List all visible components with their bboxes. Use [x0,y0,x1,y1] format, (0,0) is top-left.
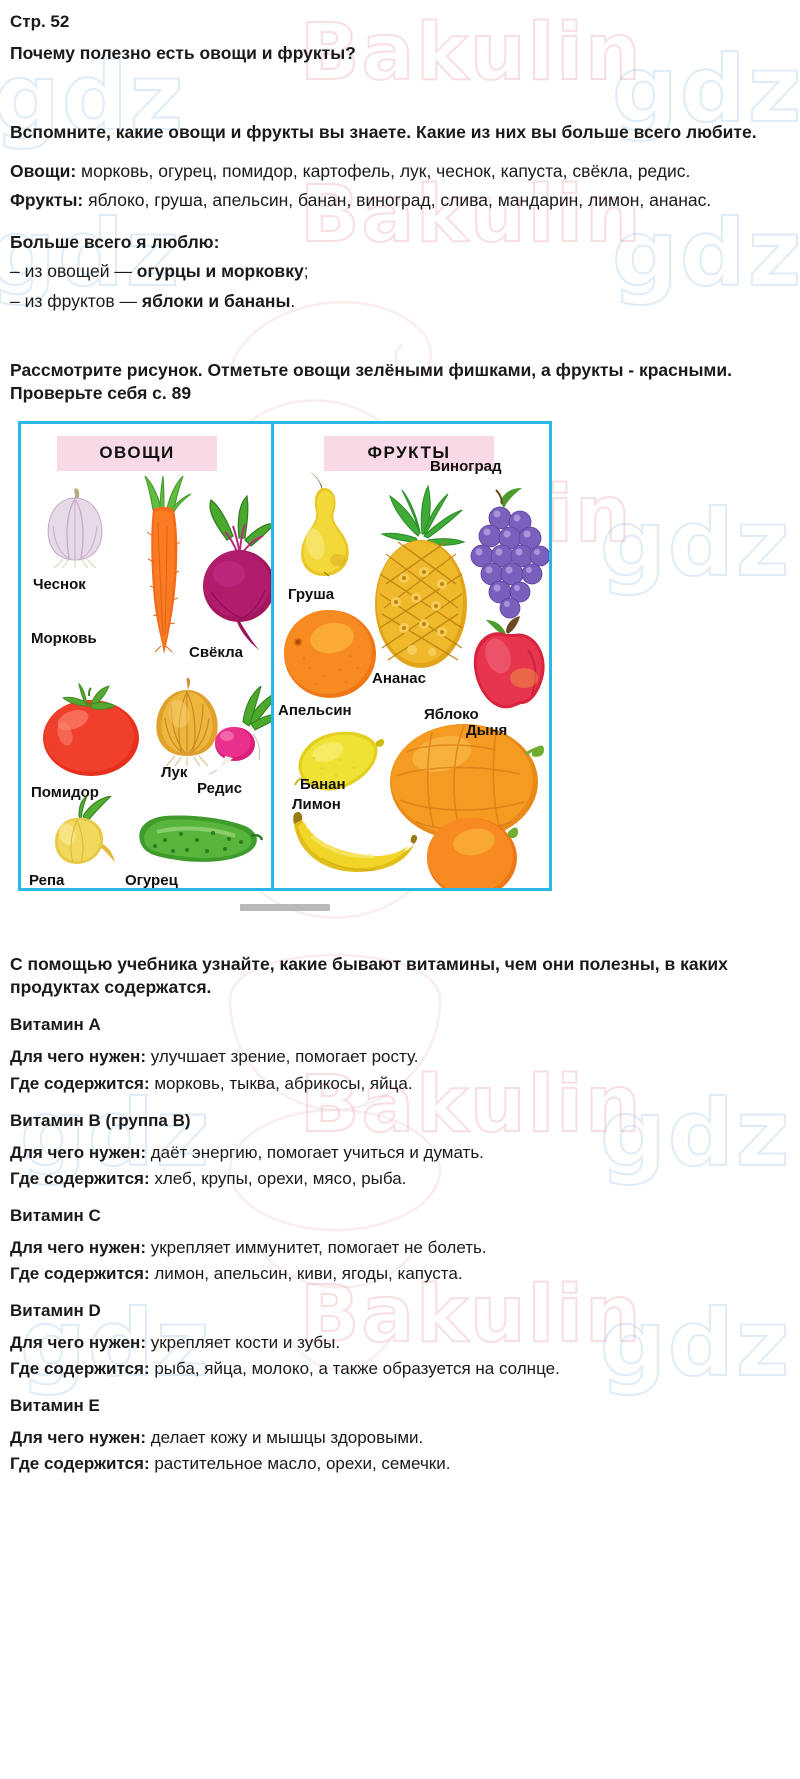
pineapple-icon [366,482,476,672]
label-banana: Банан [300,776,346,793]
need-value: укрепляет кости и зубы. [146,1333,340,1352]
label-radish: Редис [197,780,242,797]
need-label: Для чего нужен: [10,1238,146,1257]
beet-icon [193,494,274,654]
task-3-prompt: С помощью учебника узнайте, какие бывают… [10,953,792,999]
need-label: Для чего нужен: [10,1333,146,1352]
vitamin-where-line: Где содержится: рыба, яйца, молоко, а та… [10,1357,792,1380]
fav-fruit-value: яблоки и бананы [142,291,291,311]
fruits-list: яблоко, груша, апельсин, банан, виноград… [83,190,711,210]
need-value: делает кожу и мышцы здоровыми. [146,1428,423,1447]
need-value: даёт энергию, помогает учиться и думать. [146,1143,484,1162]
fav-veg-prefix: – из овощей — [10,261,137,281]
vitamin-name: Витамин В (группа В) [10,1111,792,1131]
favourites-heading-text: Больше всего я люблю: [10,232,219,252]
vitamin-where-line: Где содержится: морковь, тыква, абрикосы… [10,1072,792,1095]
vitamin-name: Витамин Е [10,1396,792,1416]
banana-icon [288,802,418,880]
label-cucumber: Огурец [125,872,178,888]
vegetables-panel-title: ОВОЩИ [57,436,217,471]
need-label: Для чего нужен: [10,1047,146,1066]
label-beet: Свёкла [189,644,243,661]
vegetables-list: морковь, огурец, помидор, картофель, лук… [76,161,690,181]
where-value: хлеб, крупы, орехи, мясо, рыба. [150,1169,407,1188]
orange-icon [424,816,520,888]
figure-divider-bar [240,904,330,911]
need-value: укрепляет иммунитет, помогает не болеть. [146,1238,487,1257]
carrot-icon [131,476,195,656]
vitamin-where-line: Где содержится: растительное масло, орех… [10,1452,792,1475]
vitamin-need-line: Для чего нужен: даёт энергию, помогает у… [10,1141,792,1164]
radish-icon [209,686,274,776]
need-label: Для чего нужен: [10,1143,146,1162]
need-label: Для чего нужен: [10,1428,146,1447]
label-grapes: Виноград [430,458,502,475]
where-label: Где содержится: [10,1169,150,1188]
fav-fruit-prefix: – из фруктов — [10,291,142,311]
favourite-vegetables-line: – из овощей — огурцы и морковку; [10,260,792,283]
label-garlic: Чеснок [33,576,86,593]
where-value: рыба, яйца, молоко, а также образуется н… [150,1359,560,1378]
where-value: лимон, апельсин, киви, ягоды, капуста. [150,1264,463,1283]
where-label: Где содержится: [10,1074,150,1093]
where-label: Где содержится: [10,1359,150,1378]
vitamin-name: Витамин А [10,1015,792,1035]
task-1-prompt: Вспомните, какие овощи и фрукты вы знает… [10,121,792,144]
vitamin-need-line: Для чего нужен: делает кожу и мышцы здор… [10,1426,792,1449]
vitamin-name: Витамин С [10,1206,792,1226]
label-pear: Груша [288,586,334,603]
where-value: морковь, тыква, абрикосы, яйца. [150,1074,413,1093]
label-orange: Апельсин [278,702,352,719]
task-2-prompt: Рассмотрите рисунок. Отметьте овощи зелё… [10,359,792,405]
vitamin-block: Витамин В (группа В) Для чего нужен: даё… [8,1111,792,1190]
label-onion: Лук [161,764,187,781]
illustration-wrapper: ОВОЩИ Чеснок [18,421,552,911]
vitamin-where-line: Где содержится: лимон, апельсин, киви, я… [10,1262,792,1285]
vitamin-block: Витамин С Для чего нужен: укрепляет имму… [8,1206,792,1285]
where-label: Где содержится: [10,1264,150,1283]
grapes-icon [466,486,549,628]
label-melon: Дыня [466,722,507,739]
favourite-fruits-line: – из фруктов — яблоки и бананы. [10,290,792,313]
vitamin-name: Витамин D [10,1301,792,1321]
pear-icon [288,472,362,582]
vitamin-where-line: Где содержится: хлеб, крупы, орехи, мясо… [10,1167,792,1190]
fav-fruit-suffix: . [290,291,295,311]
vitamin-need-line: Для чего нужен: укрепляет иммунитет, пом… [10,1236,792,1259]
vitamin-block: Витамин Е Для чего нужен: делает кожу и … [8,1396,792,1475]
vegetables-answer: Овощи: морковь, огурец, помидор, картофе… [10,160,792,183]
label-turnip: Репа [29,872,64,888]
label-carrot: Морковь [31,630,97,647]
vitamin-block: Витамин D Для чего нужен: укрепляет кост… [8,1301,792,1380]
favourites-heading: Больше всего я люблю: [10,231,792,254]
fav-veg-suffix: ; [304,261,309,281]
fruits-panel: ФРУКТЫ Груша [274,424,549,888]
need-value: улучшает зрение, помогает росту. [146,1047,419,1066]
vegetables-label: Овощи: [10,161,76,181]
vitamin-block: Витамин А Для чего нужен: улучшает зрени… [8,1015,792,1094]
vegetables-panel: ОВОЩИ Чеснок [21,424,274,888]
vitamin-need-line: Для чего нужен: укрепляет кости и зубы. [10,1331,792,1354]
page-content: Стр. 52 Почему полезно есть овощи и фрук… [0,0,800,1504]
where-label: Где содержится: [10,1454,150,1473]
page-number: Стр. 52 [10,12,792,32]
fruits-label: Фрукты: [10,190,83,210]
fav-veg-value: огурцы и морковку [137,261,304,281]
apple-icon [462,616,549,712]
tomato-icon [39,682,143,778]
garlic-icon [39,486,111,568]
where-value: растительное масло, орехи, семечки. [150,1454,451,1473]
orange-icon [280,606,380,702]
fruits-answer: Фрукты: яблоко, груша, апельсин, банан, … [10,189,792,212]
turnip-icon [43,796,119,870]
cucumber-icon [129,806,263,872]
vegetables-fruits-illustration[interactable]: ОВОЩИ Чеснок [18,421,552,891]
label-pineapple: Ананас [372,670,426,687]
page-title: Почему полезно есть овощи и фрукты? [10,42,792,65]
vitamin-need-line: Для чего нужен: улучшает зрение, помогае… [10,1045,792,1068]
